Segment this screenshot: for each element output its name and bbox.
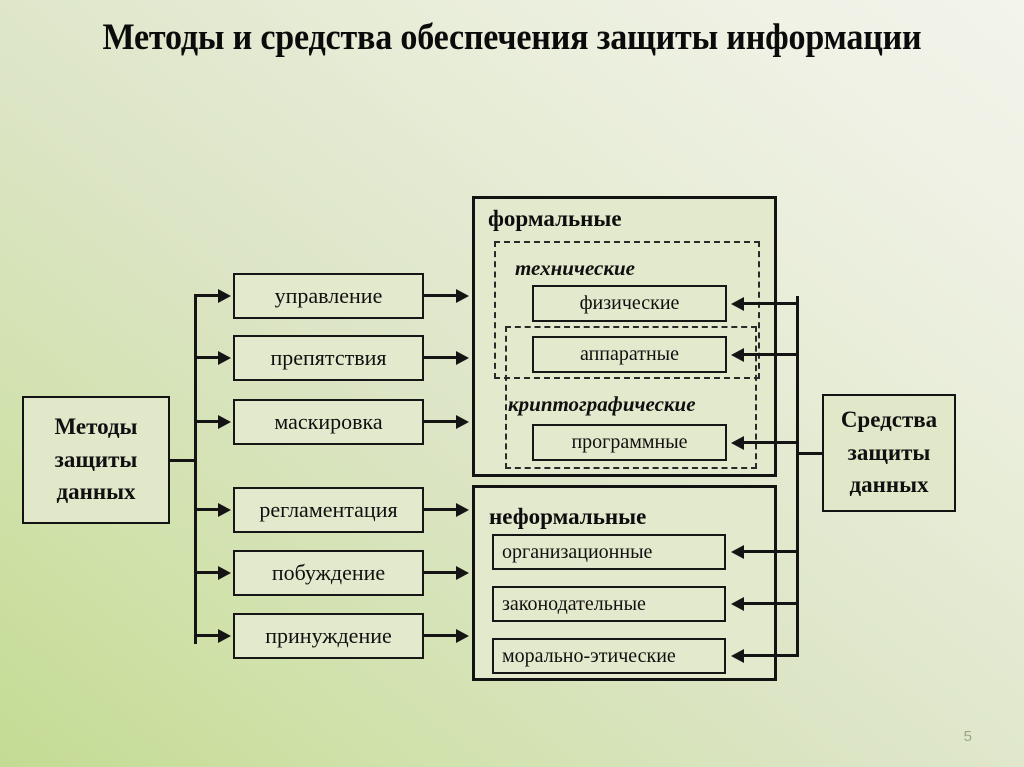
subgroup-title-technical: технические bbox=[515, 256, 635, 281]
connector-bus-to-apparatnye bbox=[744, 353, 799, 356]
leaf-label: программные bbox=[571, 431, 687, 454]
leaf-box-programmnye[interactable]: программные bbox=[532, 424, 727, 461]
root-node-means-line3: данных bbox=[849, 469, 928, 502]
root-node-methods[interactable]: Методы защиты данных bbox=[22, 396, 170, 524]
connector-bus-to-organizacionnye bbox=[744, 550, 799, 553]
root-node-means[interactable]: Средства защиты данных bbox=[822, 394, 956, 512]
left-distribution-bus bbox=[194, 296, 197, 644]
method-box-prinuzhdenie[interactable]: принуждение bbox=[233, 613, 424, 659]
method-box-upravlenie[interactable]: управление bbox=[233, 273, 424, 319]
leaf-box-fizicheskie[interactable]: физические bbox=[532, 285, 727, 322]
leaf-label: физические bbox=[580, 292, 680, 315]
connector-method-4-to-informal bbox=[424, 508, 460, 511]
leaf-box-zakonodatelnye[interactable]: законодательные bbox=[492, 586, 726, 622]
arrow-bus-to-moralno-eticheskie bbox=[731, 649, 744, 663]
connector-root-to-left-bus bbox=[170, 459, 197, 462]
leaf-box-moralno-eticheskie[interactable]: морально-этические bbox=[492, 638, 726, 674]
method-label: маскировка bbox=[274, 409, 382, 435]
root-node-means-line2: защиты bbox=[848, 437, 931, 470]
root-node-means-line1: Средства bbox=[841, 404, 937, 437]
root-node-methods-line1: Методы bbox=[54, 411, 137, 444]
arrow-method-1-to-formal bbox=[456, 289, 469, 303]
group-title-informal: неформальные bbox=[489, 504, 646, 530]
leaf-box-apparatnye[interactable]: аппаратные bbox=[532, 336, 727, 373]
method-label: принуждение bbox=[265, 623, 392, 649]
arrow-method-6-to-informal bbox=[456, 629, 469, 643]
connector-bus-to-moralno-eticheskie bbox=[744, 654, 799, 657]
page-number: 5 bbox=[964, 728, 972, 745]
connector-bus-to-zakonodatelnye bbox=[744, 602, 799, 605]
method-box-prepyatstviya[interactable]: препятствия bbox=[233, 335, 424, 381]
leaf-label: аппаратные bbox=[580, 343, 679, 366]
connector-method-5-to-informal bbox=[424, 571, 460, 574]
arrow-bus-to-organizacionnye bbox=[731, 545, 744, 559]
slide-canvas: Методы и средства обеспечения защиты инф… bbox=[0, 0, 1024, 767]
method-label: управление bbox=[275, 283, 383, 309]
connector-method-3-to-formal bbox=[424, 420, 460, 423]
method-box-maskirovka[interactable]: маскировка bbox=[233, 399, 424, 445]
arrow-method-3-to-formal bbox=[456, 415, 469, 429]
arrow-bus-to-fizicheskie bbox=[731, 297, 744, 311]
arrow-bus-to-method-6 bbox=[218, 629, 231, 643]
arrow-bus-to-method-3 bbox=[218, 415, 231, 429]
arrow-bus-to-method-1 bbox=[218, 289, 231, 303]
connector-method-6-to-informal bbox=[424, 634, 460, 637]
connector-bus-to-fizicheskie bbox=[744, 302, 799, 305]
root-node-methods-line3: данных bbox=[56, 476, 135, 509]
arrow-bus-to-apparatnye bbox=[731, 348, 744, 362]
method-label: препятствия bbox=[271, 345, 387, 371]
method-label: побуждение bbox=[272, 560, 385, 586]
arrow-method-2-to-formal bbox=[456, 351, 469, 365]
connector-method-2-to-formal bbox=[424, 356, 460, 359]
method-box-pobuzhdenie[interactable]: побуждение bbox=[233, 550, 424, 596]
page-title: Методы и средства обеспечения защиты инф… bbox=[41, 14, 983, 63]
connector-bus-to-programmnye bbox=[744, 441, 799, 444]
root-node-methods-line2: защиты bbox=[55, 444, 138, 477]
connector-right-bus-to-root bbox=[796, 452, 824, 455]
arrow-bus-to-method-5 bbox=[218, 566, 231, 580]
leaf-label: организационные bbox=[502, 541, 652, 564]
arrow-method-4-to-informal bbox=[456, 503, 469, 517]
leaf-label: морально-этические bbox=[502, 645, 676, 668]
leaf-label: законодательные bbox=[502, 593, 646, 616]
connector-method-1-to-formal bbox=[424, 294, 460, 297]
method-box-reglamentaciya[interactable]: регламентация bbox=[233, 487, 424, 533]
arrow-bus-to-programmnye bbox=[731, 436, 744, 450]
arrow-bus-to-method-2 bbox=[218, 351, 231, 365]
arrow-bus-to-method-4 bbox=[218, 503, 231, 517]
arrow-method-5-to-informal bbox=[456, 566, 469, 580]
subgroup-title-cryptographic: криптографические bbox=[508, 392, 696, 417]
arrow-bus-to-zakonodatelnye bbox=[731, 597, 744, 611]
leaf-box-organizacionnye[interactable]: организационные bbox=[492, 534, 726, 570]
group-title-formal: формальные bbox=[488, 206, 622, 232]
method-label: регламентация bbox=[259, 497, 397, 523]
